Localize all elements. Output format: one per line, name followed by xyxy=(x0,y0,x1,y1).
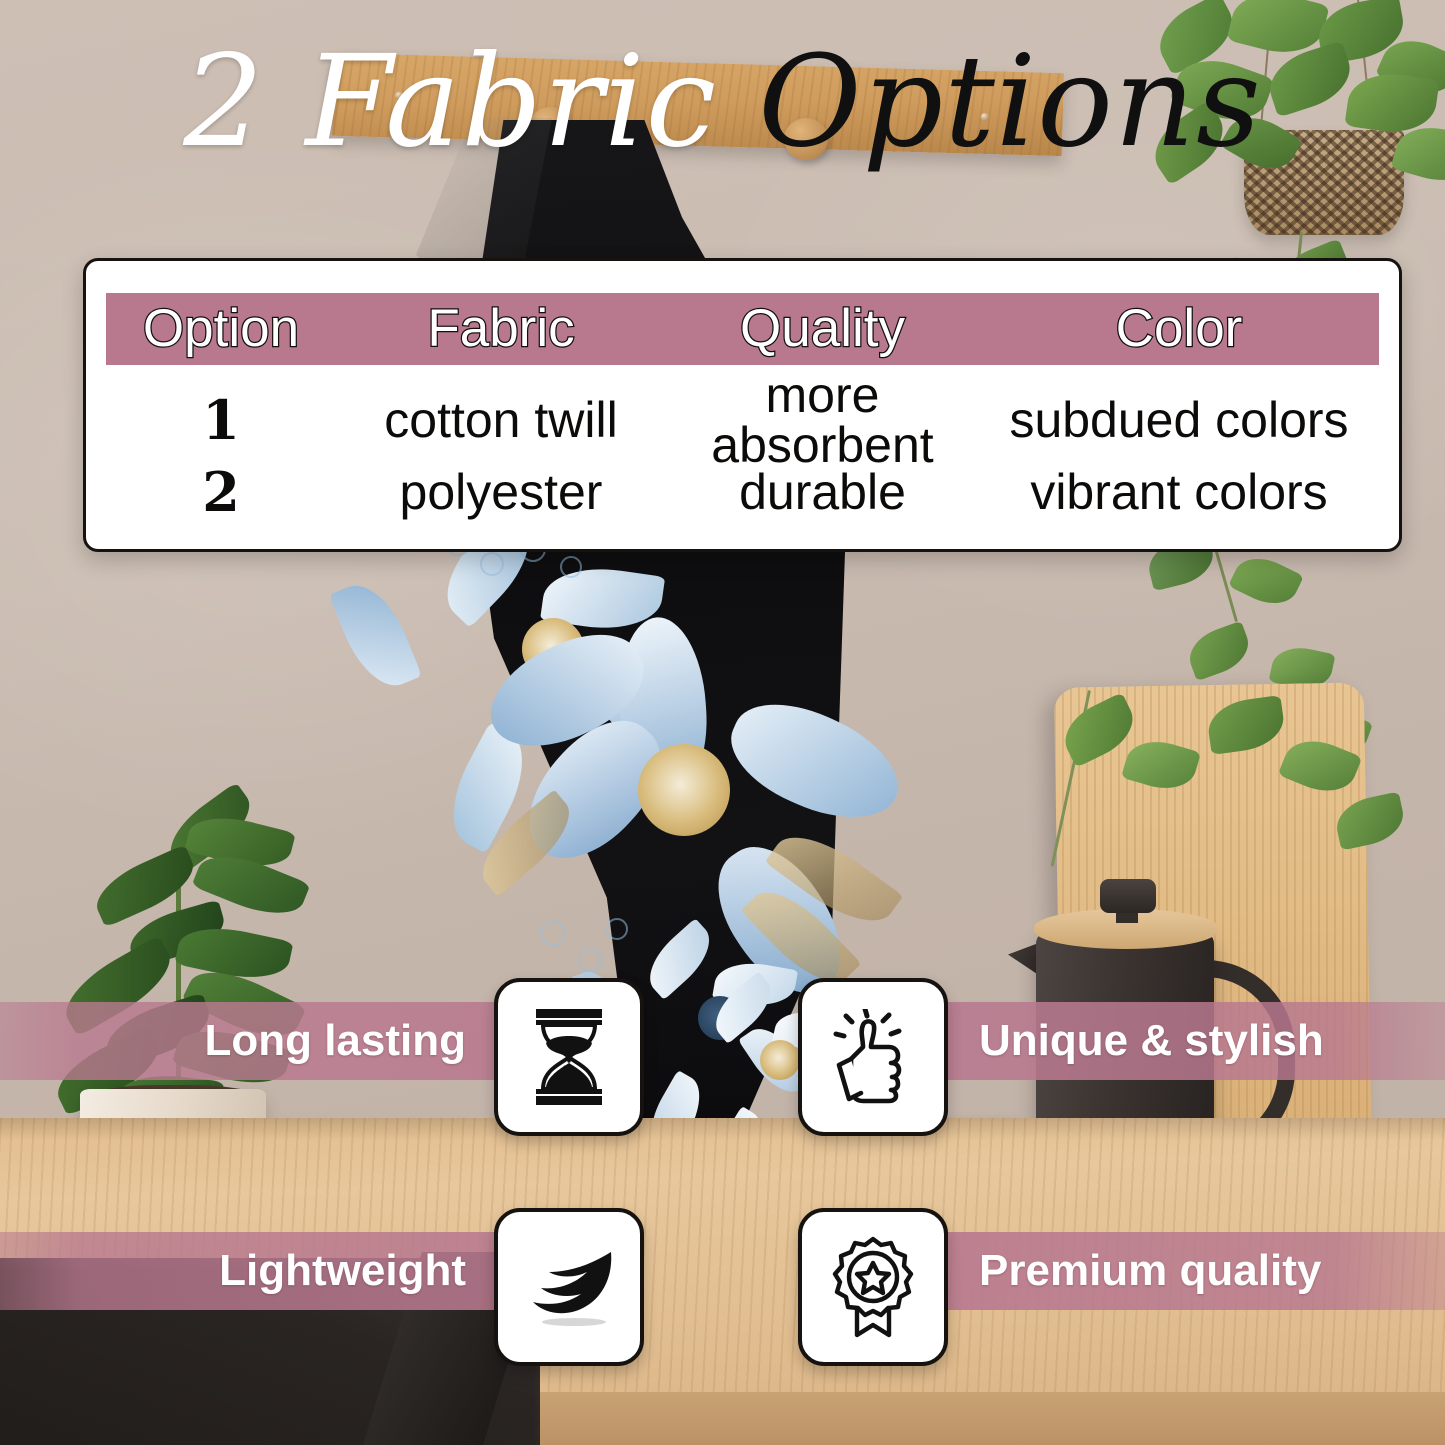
feature-icon-tile-premium-quality xyxy=(798,1208,948,1366)
page-title: 2 Fabric Options xyxy=(0,14,1445,190)
feature-bar-lightweight: Lightweight xyxy=(0,1232,500,1310)
thumbs-up-icon xyxy=(827,1009,919,1105)
title-part-black: Options xyxy=(758,28,1262,175)
column-header-color: Color xyxy=(979,293,1379,365)
cell-option-1: 1 xyxy=(106,393,336,447)
table-row: 2 polyester durable vibrant colors xyxy=(106,461,1379,523)
hourglass-icon xyxy=(530,1007,608,1107)
feather-icon xyxy=(519,1242,619,1332)
product-infographic: 2 Fabric Options Option Fabric Quality C… xyxy=(0,0,1445,1445)
feature-icon-tile-lightweight xyxy=(494,1208,644,1366)
column-header-fabric: Fabric xyxy=(336,293,666,365)
cell-fabric-1: cotton twill xyxy=(336,395,666,445)
cell-color-2: vibrant colors xyxy=(979,467,1379,517)
feature-label-unique-stylish: Unique & stylish xyxy=(945,1016,1324,1066)
award-badge-icon xyxy=(827,1235,919,1339)
cell-option-2: 2 xyxy=(106,465,336,519)
feature-icon-tile-long-lasting xyxy=(494,978,644,1136)
table-row: 1 cotton twill more absorbent subdued co… xyxy=(106,383,1379,457)
feature-label-long-lasting: Long lasting xyxy=(204,1016,500,1066)
column-header-option: Option xyxy=(106,293,336,365)
comparison-table-card: Option Fabric Quality Color 1 cotton twi… xyxy=(83,258,1402,552)
cell-quality-1-line1: more xyxy=(666,370,979,420)
feature-bar-unique-stylish: Unique & stylish xyxy=(945,1002,1445,1080)
title-part-white: 2 Fabric xyxy=(183,28,717,175)
feature-label-lightweight: Lightweight xyxy=(219,1246,500,1296)
cell-quality-2: durable xyxy=(666,467,979,517)
cell-color-1: subdued colors xyxy=(979,395,1379,445)
feature-label-premium-quality: Premium quality xyxy=(945,1246,1321,1296)
table-header-row: Option Fabric Quality Color xyxy=(106,293,1379,365)
feature-bar-premium-quality: Premium quality xyxy=(945,1232,1445,1310)
kitchen-scene-photo xyxy=(0,0,1445,1445)
cell-fabric-2: polyester xyxy=(336,467,666,517)
feature-bar-long-lasting: Long lasting xyxy=(0,1002,500,1080)
cell-quality-1: more absorbent xyxy=(666,370,979,470)
feature-icon-tile-unique-stylish xyxy=(798,978,948,1136)
column-header-quality: Quality xyxy=(666,293,979,365)
